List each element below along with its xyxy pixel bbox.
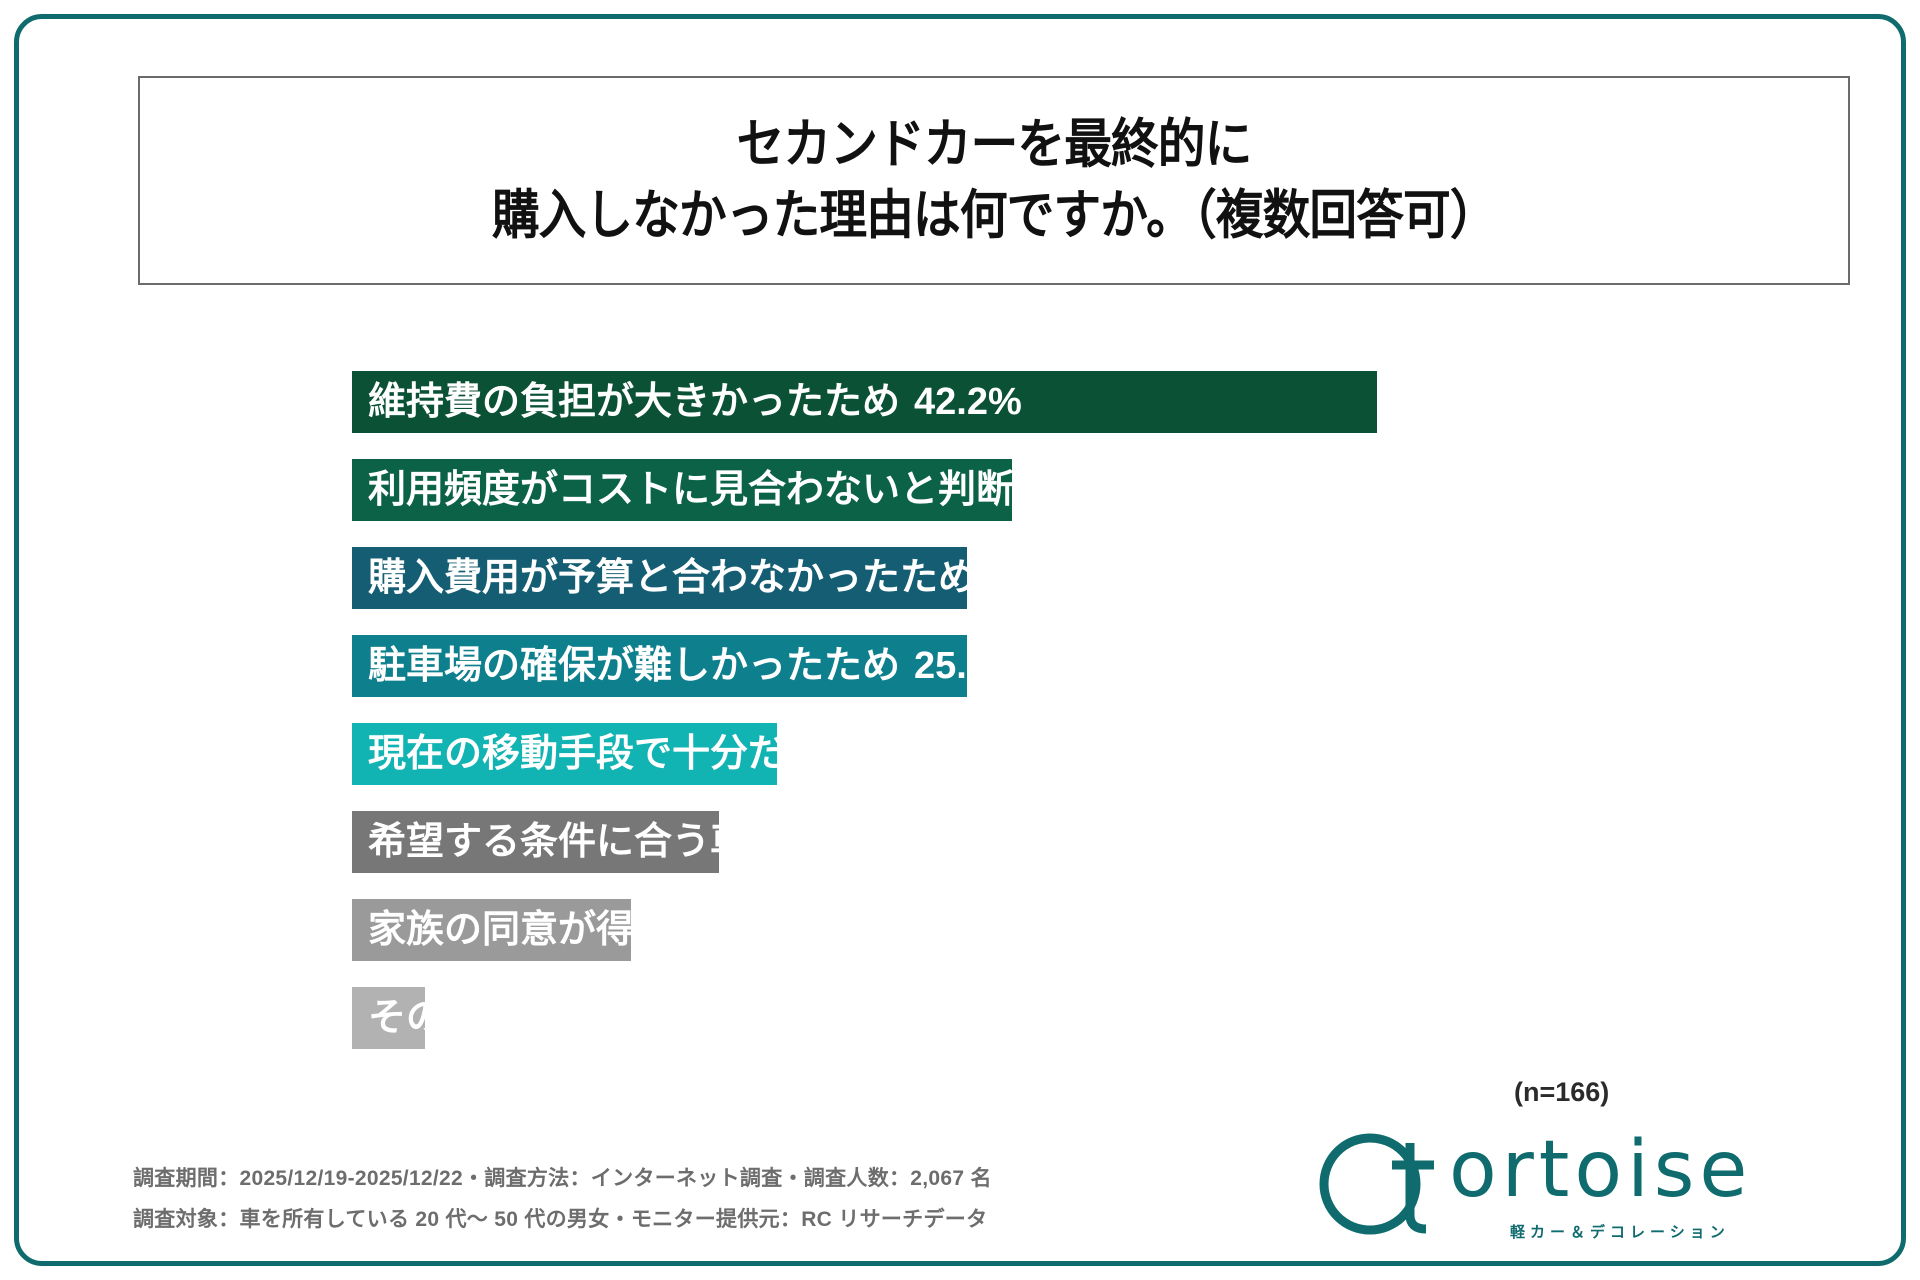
bar-value-text: 15.1% [1180,821,1288,863]
sample-size-label: (n=166) [1514,1077,1609,1108]
bar-row: その他3.0% [19,987,1911,1059]
bar-fill [352,459,1012,521]
footnotes: 調査期間：2025/12/19-2025/12/22・調査方法：インターネット調… [133,1159,992,1241]
slide-border-frame: セカンドカーを最終的に 購入しなかった理由は何ですか。（複数回答可） 維持費の負… [14,14,1906,1266]
bar-fill [352,723,777,785]
title-box: セカンドカーを最終的に 購入しなかった理由は何ですか。（複数回答可） [138,76,1850,285]
bar-value-text: 3.0% [496,997,583,1039]
bar-row: 家族の同意が得られなかったため11.5% [19,899,1911,971]
bar-chart: 維持費の負担が大きかったため42.2%利用頻度がコストに見合わないと判断したため… [19,371,1911,1091]
bar-row: 駐車場の確保が難しかったため25.3% [19,635,1911,707]
bar-fill [352,371,1377,433]
footnote-line-1: 調査期間：2025/12/19-2025/12/22・調査方法：インターネット調… [133,1159,992,1200]
bar-value-text: 11.5% [952,909,1058,951]
title-line-1: セカンドカーを最終的に [737,110,1252,180]
slide-canvas: セカンドカーを最終的に 購入しなかった理由は何ですか。（複数回答可） 維持費の負… [0,0,1920,1280]
bar-fill [352,811,719,873]
bar-value-text: 17.5% [1104,733,1212,775]
bar-row: 現在の移動手段で十分だと考え直したため17.5% [19,723,1911,795]
bar-row: 維持費の負担が大きかったため42.2% [19,371,1911,443]
bar-fill [352,987,425,1049]
bar-fill [352,899,631,961]
bar-value-text: 25.3% [990,557,1098,599]
logo-tagline: 軽カー＆デコレーション [1510,1221,1730,1242]
logo-wordmark: ortoise [1449,1131,1752,1209]
footnote-line-2: 調査対象：車を所有している 20 代～ 50 代の男女・モニター提供元：RC リ… [133,1200,992,1241]
tortoise-mark-icon [1314,1129,1464,1239]
bar-row: 利用頻度がコストに見合わないと判断したため27.1% [19,459,1911,531]
tortoise-logo: ortoise 軽カー＆デコレーション [1314,1129,1844,1249]
bar-row: 希望する条件に合う車が見つからなかったため15.1% [19,811,1911,883]
bar-value-text: 27.1% [1180,469,1288,511]
bar-fill [352,547,967,609]
title-line-2: 購入しなかった理由は何ですか。（複数回答可） [492,181,1497,251]
bar-fill [352,635,967,697]
bar-row: 購入費用が予算と合わなかったため25.3% [19,547,1911,619]
